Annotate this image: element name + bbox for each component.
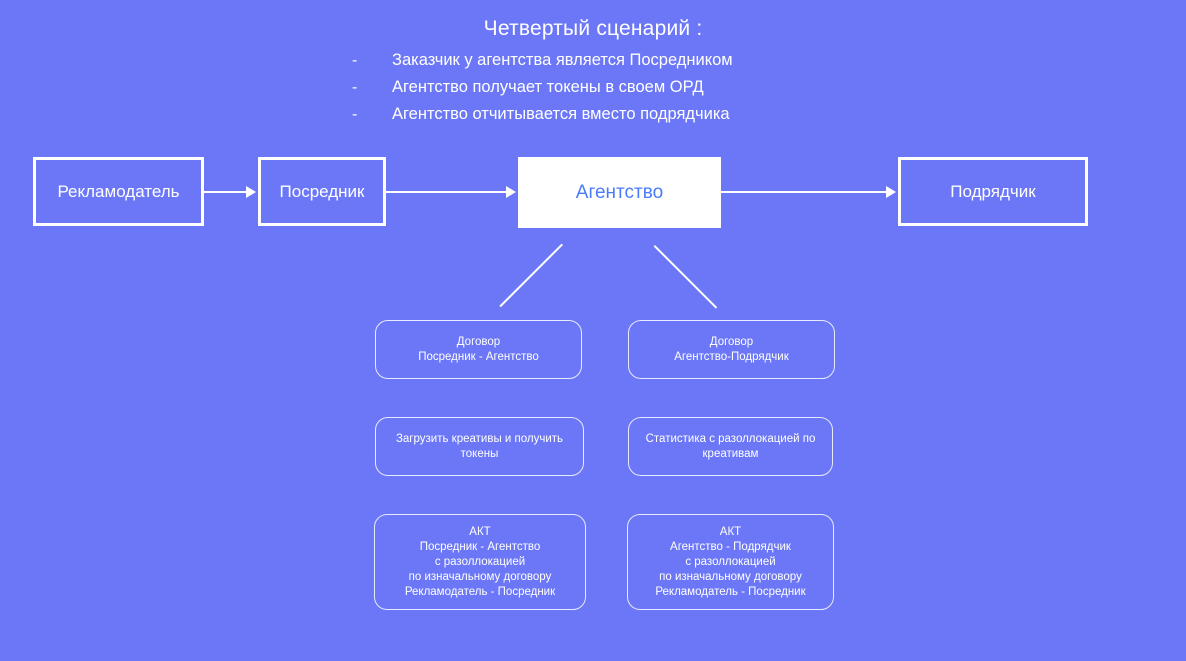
bullet-marker-icon: - <box>352 101 392 128</box>
card-line: Статистика с разоллокацией по <box>646 432 816 447</box>
card-line: токены <box>396 447 563 462</box>
card-act-mediator-agency: АКТ Посредник - Агентство с разоллокацие… <box>374 514 586 610</box>
card-line: АКТ <box>655 525 805 540</box>
card-line: Агентство-Подрядчик <box>674 350 789 365</box>
diagram-canvas: Четвертый сценарий : - Заказчик у агентс… <box>0 0 1186 661</box>
card-line: Посредник - Агентство <box>405 540 555 555</box>
card-line: по изначальному договору <box>405 570 555 585</box>
card-contract-agency-contractor: Договор Агентство-Подрядчик <box>628 320 835 379</box>
bullet-text: Агентство отчитывается вместо подрядчика <box>392 101 730 128</box>
node-agency: Агентство <box>518 157 721 228</box>
arrowhead-icon <box>886 186 896 198</box>
card-upload-creatives: Загрузить креативы и получить токены <box>375 417 584 476</box>
node-contractor: Подрядчик <box>898 157 1088 226</box>
card-line: креативам <box>646 447 816 462</box>
card-line: по изначальному договору <box>655 570 805 585</box>
card-line: Агентство - Подрядчик <box>655 540 805 555</box>
node-mediator: Посредник <box>258 157 386 226</box>
page-title: Четвертый сценарий : <box>0 17 1186 41</box>
node-advertiser: Рекламодатель <box>33 157 204 226</box>
card-line: АКТ <box>405 525 555 540</box>
card-line: Договор <box>418 335 539 350</box>
card-line: Договор <box>674 335 789 350</box>
connector-agency-to-right-column <box>654 245 718 309</box>
connector-advertiser-to-mediator <box>204 191 248 193</box>
card-statistics: Статистика с разоллокацией по креативам <box>628 417 833 476</box>
card-line: Загрузить креативы и получить <box>396 432 563 447</box>
card-contract-mediator-agency: Договор Посредник - Агентство <box>375 320 582 379</box>
arrowhead-icon <box>506 186 516 198</box>
card-line: Рекламодатель - Посредник <box>405 585 555 600</box>
card-line: с разоллокацией <box>405 555 555 570</box>
list-item: - Агентство отчитывается вместо подрядчи… <box>352 101 872 128</box>
bullet-text: Агентство получает токены в своем ОРД <box>392 74 704 101</box>
connector-agency-to-left-column <box>499 244 563 308</box>
list-item: - Заказчик у агентства является Посредни… <box>352 47 872 74</box>
card-line: Посредник - Агентство <box>418 350 539 365</box>
bullet-marker-icon: - <box>352 74 392 101</box>
bullet-text: Заказчик у агентства является Посреднико… <box>392 47 733 74</box>
connector-mediator-to-agency <box>386 191 508 193</box>
list-item: - Агентство получает токены в своем ОРД <box>352 74 872 101</box>
arrowhead-icon <box>246 186 256 198</box>
connector-agency-to-contractor <box>721 191 888 193</box>
card-act-agency-contractor: АКТ Агентство - Подрядчик с разоллокацие… <box>627 514 834 610</box>
bullet-list: - Заказчик у агентства является Посредни… <box>352 47 872 128</box>
card-line: Рекламодатель - Посредник <box>655 585 805 600</box>
card-line: с разоллокацией <box>655 555 805 570</box>
bullet-marker-icon: - <box>352 47 392 74</box>
